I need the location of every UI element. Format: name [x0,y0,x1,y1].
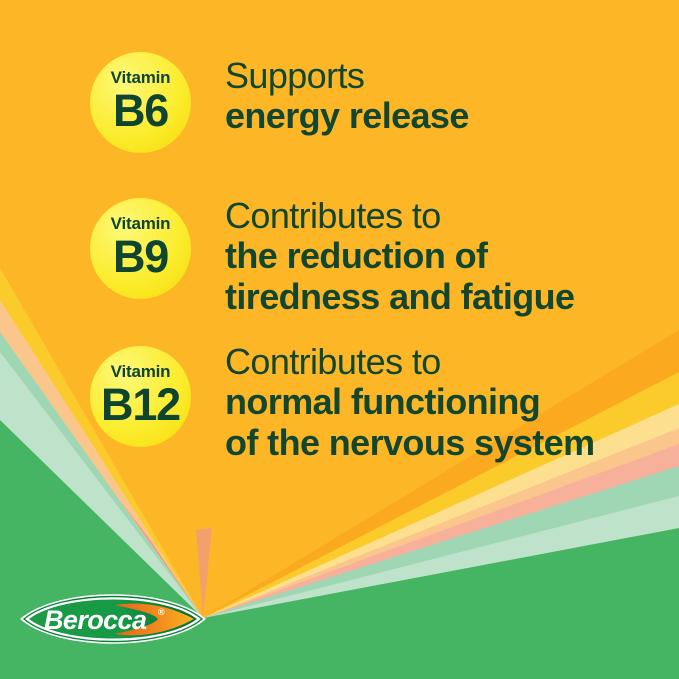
benefits-list: Vitamin B6 Supports energy release Vitam… [0,0,679,679]
benefit-line: Supports [225,56,469,96]
benefit-line: tiredness and fatigue [225,277,574,317]
vitamin-pill-b12: Vitamin B12 [90,346,191,447]
berocca-logo: Berocca ® [18,588,208,650]
logo-wordmark: Berocca [44,605,147,635]
logo-registered-mark: ® [158,607,165,617]
vitamin-pill-code: B9 [113,234,168,279]
benefit-line: normal functioning [225,382,595,422]
benefit-line: the reduction of [225,236,574,276]
vitamin-pill-code: B6 [113,88,168,133]
benefit-copy-b9: Contributes to the reduction of tirednes… [225,196,574,317]
vitamin-pill-label: Vitamin [111,363,171,380]
berocca-product-infographic: Vitamin B6 Supports energy release Vitam… [0,0,679,679]
benefit-row-b6: Vitamin B6 Supports energy release [90,52,469,153]
benefit-row-b12: Vitamin B12 Contributes to normal functi… [90,338,595,463]
benefit-row-b9: Vitamin B9 Contributes to the reduction … [90,192,574,317]
vitamin-pill-code: B12 [101,382,180,427]
benefit-line: Contributes to [225,342,595,382]
benefit-copy-b12: Contributes to normal functioning of the… [225,342,595,463]
benefit-copy-b6: Supports energy release [225,56,469,137]
vitamin-pill-label: Vitamin [111,69,171,86]
vitamin-pill-b6: Vitamin B6 [90,52,191,153]
benefit-line: Contributes to [225,196,574,236]
benefit-line: of the nervous system [225,423,595,463]
vitamin-pill-label: Vitamin [111,215,171,232]
vitamin-pill-b9: Vitamin B9 [90,198,191,299]
berocca-logo-svg: Berocca ® [18,588,208,650]
benefit-line: energy release [225,96,469,136]
